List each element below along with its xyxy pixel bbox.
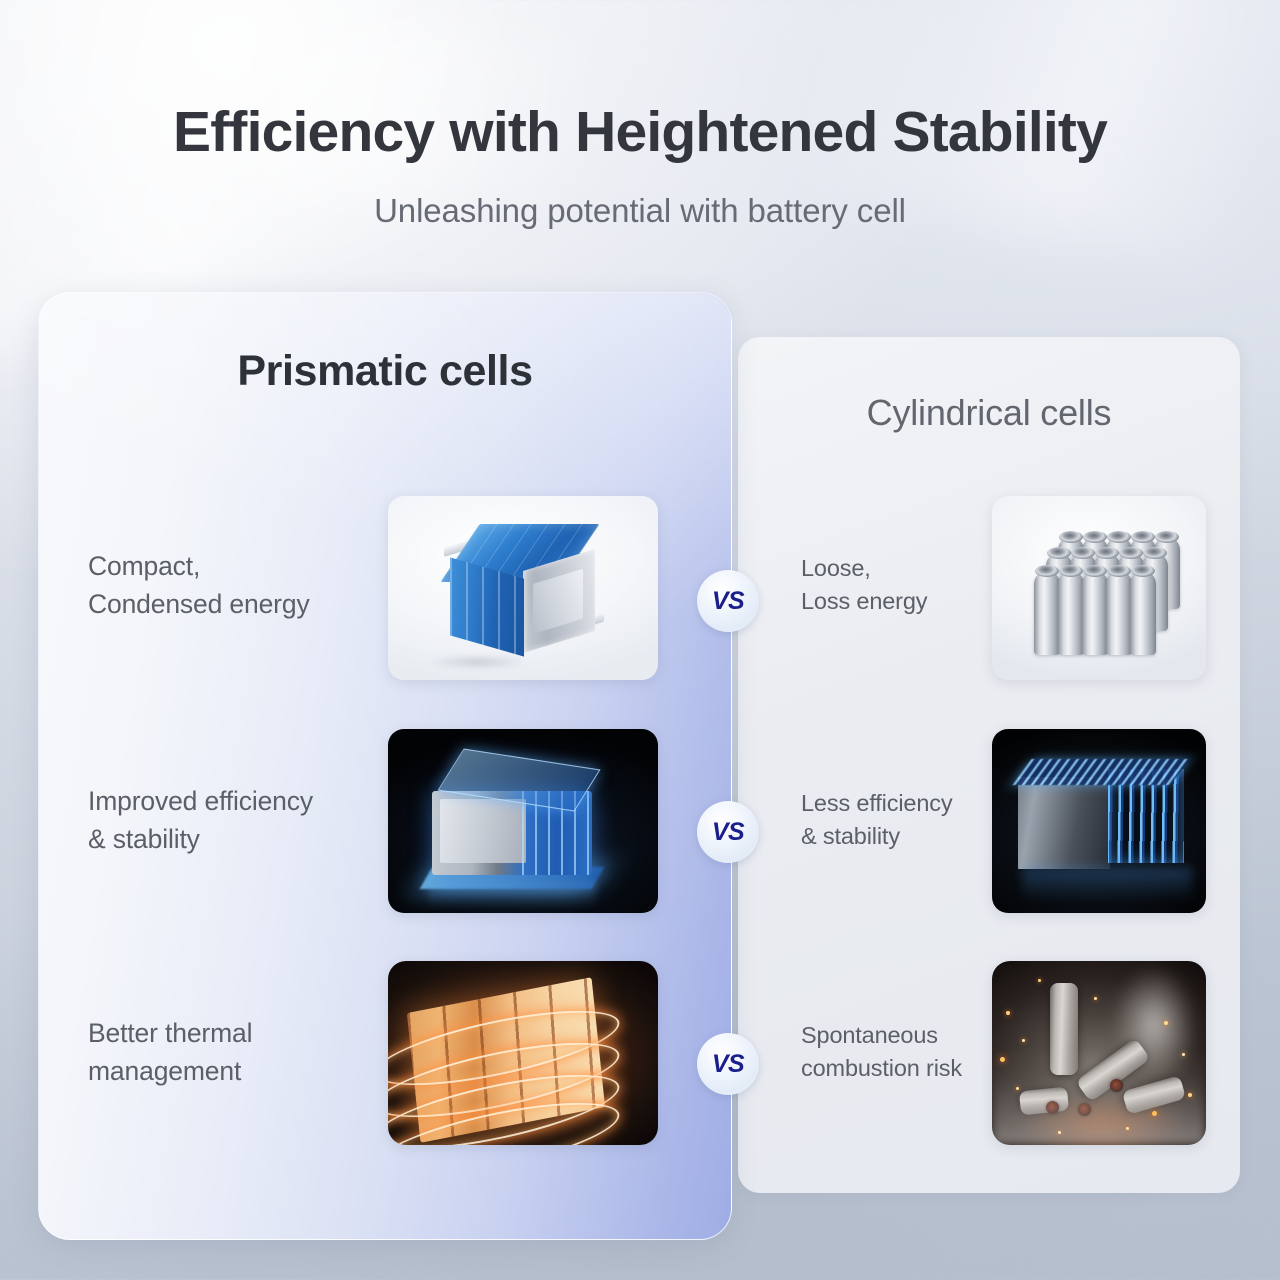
row-right-label-line-2: combustion risk [801,1052,996,1085]
spark [1126,1127,1129,1130]
module-drop-shadow [408,654,548,670]
spark [1058,1131,1061,1134]
module-end-plate [533,569,583,634]
cylindrical-array-image-card [992,729,1206,913]
prismatic-module-image-card [388,496,658,680]
prismatic-module-photo [388,496,658,680]
page-header: Efficiency with Heightened Stability Unl… [0,0,1280,230]
row-left-label: Better thermal management [88,1015,378,1090]
thermal-management-image-card [388,961,658,1145]
cylindrical-cell [1130,571,1156,655]
spark [1022,1039,1025,1042]
cell-cap [1059,531,1083,543]
vs-badge: VS [697,801,759,863]
row-left-label: Improved efficiency & stability [88,783,378,858]
row-left-label-line-2: & stability [88,821,378,859]
smoke-haze [992,1049,1206,1145]
row-left-label-line-1: Better thermal [88,1015,378,1053]
array-front-panel [1018,777,1110,869]
cylindrical-cell [1034,571,1060,655]
spark [1000,1057,1005,1062]
comparison-row: Improved efficiency & stability VS Less … [0,725,1280,915]
vs-badge: VS [697,1033,759,1095]
prismatic-cells-heading: Prismatic cells [38,292,732,396]
row-left-label-line-1: Improved efficiency [88,783,378,821]
cell-cap [1107,565,1131,577]
cell-cap [1059,565,1083,577]
cell-cap [1143,547,1167,559]
spark [1188,1093,1192,1097]
spark [1094,997,1097,1000]
cylindrical-cell-stack [1024,533,1174,651]
prismatic-cell-exploded-glow-photo [388,729,658,913]
prismatic-module-illustration [438,524,608,652]
spark [1164,1021,1168,1025]
page-title: Efficiency with Heightened Stability [0,102,1280,164]
cylindrical-cell-bundle-photo [992,496,1206,680]
cylindrical-cells-heading: Cylindrical cells [738,337,1240,434]
spark [1016,1087,1019,1090]
combustion-risk-image-card [992,961,1206,1145]
thermal-management-glow-photo [388,961,658,1145]
row-left-label: Compact, Condensed energy [88,548,378,623]
cell-cap [1071,547,1095,559]
row-left-label-line-1: Compact, [88,548,378,586]
floor-reflection [1022,867,1192,901]
cell-inner-stack [440,799,526,863]
row-right-label-line-2: & stability [801,820,996,853]
combustion-sparks-photo [992,961,1206,1145]
row-right-label-line-1: Loose, [801,552,996,585]
row-left-label-line-2: Condensed energy [88,586,378,624]
cylindrical-cell-array-glow-photo [992,729,1206,913]
prismatic-exploded-image-card [388,729,658,913]
cell-cap [1107,531,1131,543]
cell-cap [1047,547,1071,559]
spark [1006,1011,1010,1015]
floor-reflection [428,881,596,907]
row-right-label: Spontaneous combustion risk [801,1019,996,1086]
cell-cap [1035,565,1059,577]
row-right-label: Less efficiency & stability [801,787,996,854]
row-left-label-line-2: management [88,1053,378,1091]
cylindrical-cell [1106,571,1132,655]
page-subtitle: Unleashing potential with battery cell [0,192,1280,230]
cell-cap [1083,565,1107,577]
cylindrical-bundle-image-card [992,496,1206,680]
row-right-label: Loose, Loss energy [801,552,996,619]
spark [1152,1111,1157,1116]
cell-cap [1095,547,1119,559]
cell-cap [1131,531,1155,543]
cell-cap [1083,531,1107,543]
comparison-row: Compact, Condensed energy VS L [0,492,1280,682]
array-top-cells [1013,759,1190,785]
row-right-label-line-2: Loss energy [801,585,996,618]
row-right-label-line-1: Less efficiency [801,787,996,820]
spark [1182,1053,1185,1056]
cell-cap [1119,547,1143,559]
comparison-row: Better thermal management VS Spontaneous… [0,957,1280,1147]
cell-cap [1131,565,1155,577]
cell-cap [1155,531,1179,543]
row-right-label-line-1: Spontaneous [801,1019,996,1052]
cylindrical-cell [1082,571,1108,655]
cylindrical-cell [1058,571,1084,655]
vs-badge: VS [697,570,759,632]
spark [1038,979,1041,982]
